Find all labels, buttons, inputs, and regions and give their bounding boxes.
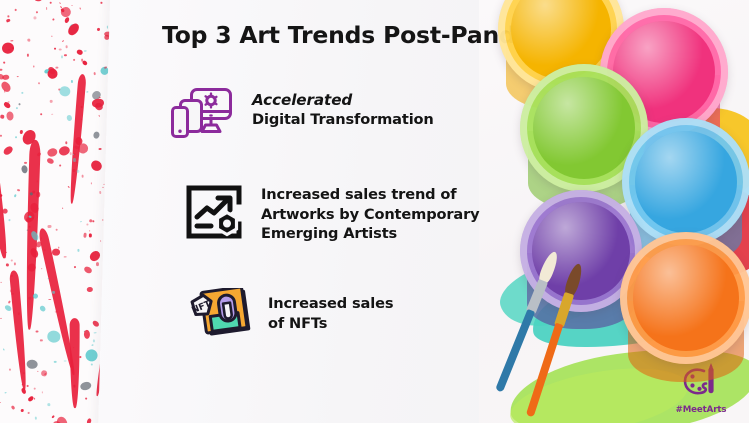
trend-2-line-3: Emerging Artists	[261, 224, 480, 244]
trend-1-lead: Accelerated	[252, 90, 434, 110]
trend-item-digital-transformation: Accelerated Digital Transformation	[170, 86, 434, 146]
nft-artwork-icon: NFT	[190, 288, 252, 344]
trend-2-text: Increased sales trend of Artworks by Con…	[261, 184, 480, 244]
trend-item-nft-sales: NFT Increased sales of NFTs	[190, 288, 393, 344]
trend-1-text: Accelerated Digital Transformation	[252, 86, 434, 130]
logo-tagline: #MeetArts	[665, 405, 737, 415]
trend-1-line-1: Digital Transformation	[252, 110, 434, 130]
sales-trend-chart-icon	[185, 184, 243, 244]
trend-item-contemporary-artworks: Increased sales trend of Artworks by Con…	[185, 184, 480, 244]
digital-devices-gear-icon	[170, 86, 234, 146]
trend-2-line-2: Artworks by Contemporary	[261, 205, 480, 225]
poster-canvas: Top 3 Art Trends Post-Pandemic A	[0, 0, 749, 423]
trend-2-line-1: Increased sales trend of	[261, 185, 480, 205]
trend-3-line-2: of NFTs	[268, 314, 393, 334]
paint-jar	[622, 118, 749, 246]
trend-3-line-1: Increased sales	[268, 294, 393, 314]
trend-3-text: Increased sales of NFTs	[268, 288, 393, 333]
paint-jar	[620, 232, 749, 364]
poster-content: Top 3 Art Trends Post-Pandemic A	[0, 0, 520, 423]
